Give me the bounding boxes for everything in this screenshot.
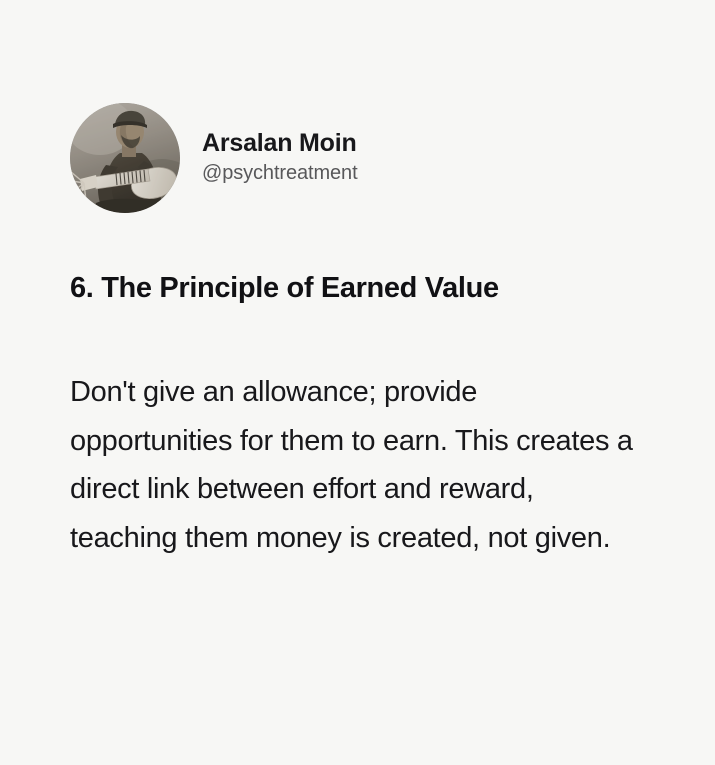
author-meta: Arsalan Moin @psychtreatment (202, 129, 358, 187)
quote-card: Arsalan Moin @psychtreatment 6. The Prin… (0, 0, 715, 765)
author-row: Arsalan Moin @psychtreatment (70, 103, 358, 213)
post-heading: 6. The Principle of Earned Value (70, 270, 670, 306)
avatar-photo-icon (70, 103, 180, 213)
avatar[interactable] (70, 103, 180, 213)
author-name[interactable]: Arsalan Moin (202, 129, 358, 158)
post-body: Don't give an allowance; provide opportu… (70, 368, 645, 562)
author-handle[interactable]: @psychtreatment (202, 162, 358, 185)
